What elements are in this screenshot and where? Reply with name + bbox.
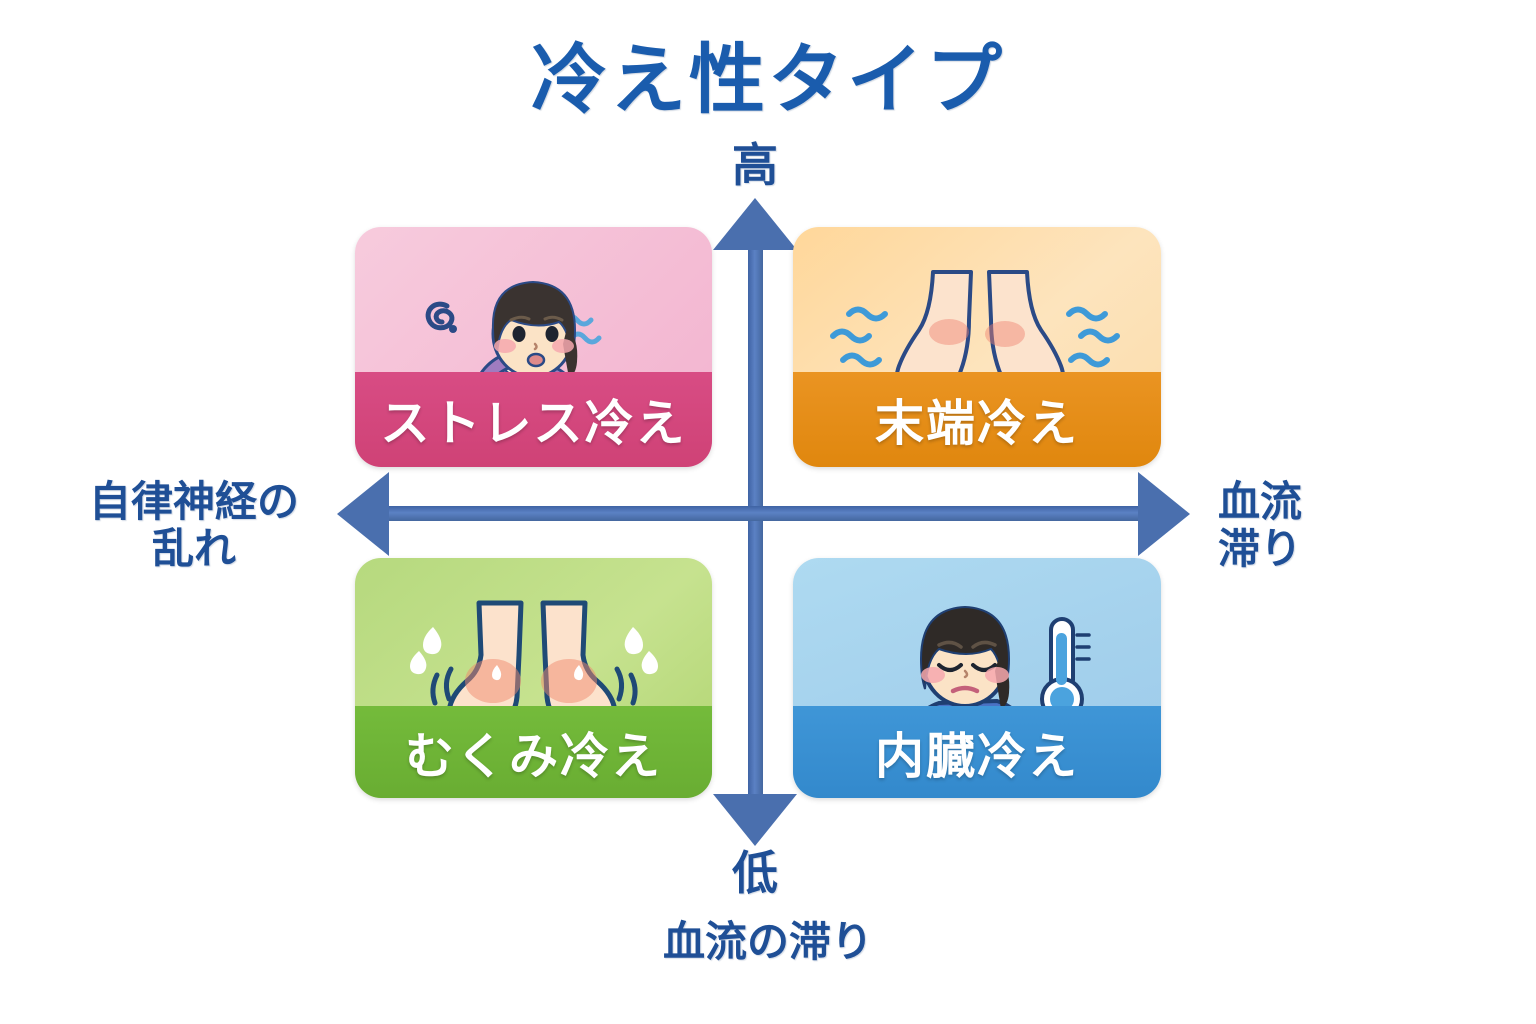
quadrant-card-stress[interactable]: ストレス冷え	[355, 227, 712, 467]
axis-label-right-line1: 血流	[1218, 478, 1448, 525]
card-band-naizo: 内臓冷え	[793, 706, 1161, 798]
card-band-matan: 末端冷え	[793, 372, 1161, 467]
axis-label-bottom: 低	[640, 848, 870, 900]
card-label-naizo: 内臓冷え	[875, 717, 1079, 788]
card-label-matan: 末端冷え	[875, 384, 1079, 455]
axis-label-left: 自律神経の 乱れ	[60, 478, 328, 572]
card-band-stress: ストレス冷え	[355, 372, 712, 467]
axis-label-right-line2: 滞り	[1218, 525, 1448, 572]
axis-label-left-line2: 乱れ	[60, 525, 328, 572]
page-title: 冷え性タイプ	[0, 18, 1536, 128]
axis-label-top: 高	[640, 140, 870, 192]
vertical-axis-line	[748, 230, 763, 820]
card-label-mukumi: むくみ冷え	[405, 717, 662, 788]
arrow-left-icon	[337, 472, 389, 556]
quadrant-card-mukumi[interactable]: むくみ冷え	[355, 558, 712, 798]
axis-caption-bottom: 血流の滞り	[568, 918, 968, 965]
arrow-up-icon	[713, 198, 797, 250]
arrow-right-icon	[1138, 472, 1190, 556]
horizontal-axis-line	[355, 506, 1175, 521]
card-label-stress: ストレス冷え	[380, 384, 686, 455]
quadrant-card-naizo[interactable]: 内臓冷え	[793, 558, 1161, 798]
axis-label-right: 血流 滞り	[1218, 478, 1448, 572]
axis-label-left-line1: 自律神経の	[60, 478, 328, 525]
quadrant-card-matan[interactable]: 末端冷え	[793, 227, 1161, 467]
arrow-down-icon	[713, 794, 797, 846]
card-band-mukumi: むくみ冷え	[355, 706, 712, 798]
